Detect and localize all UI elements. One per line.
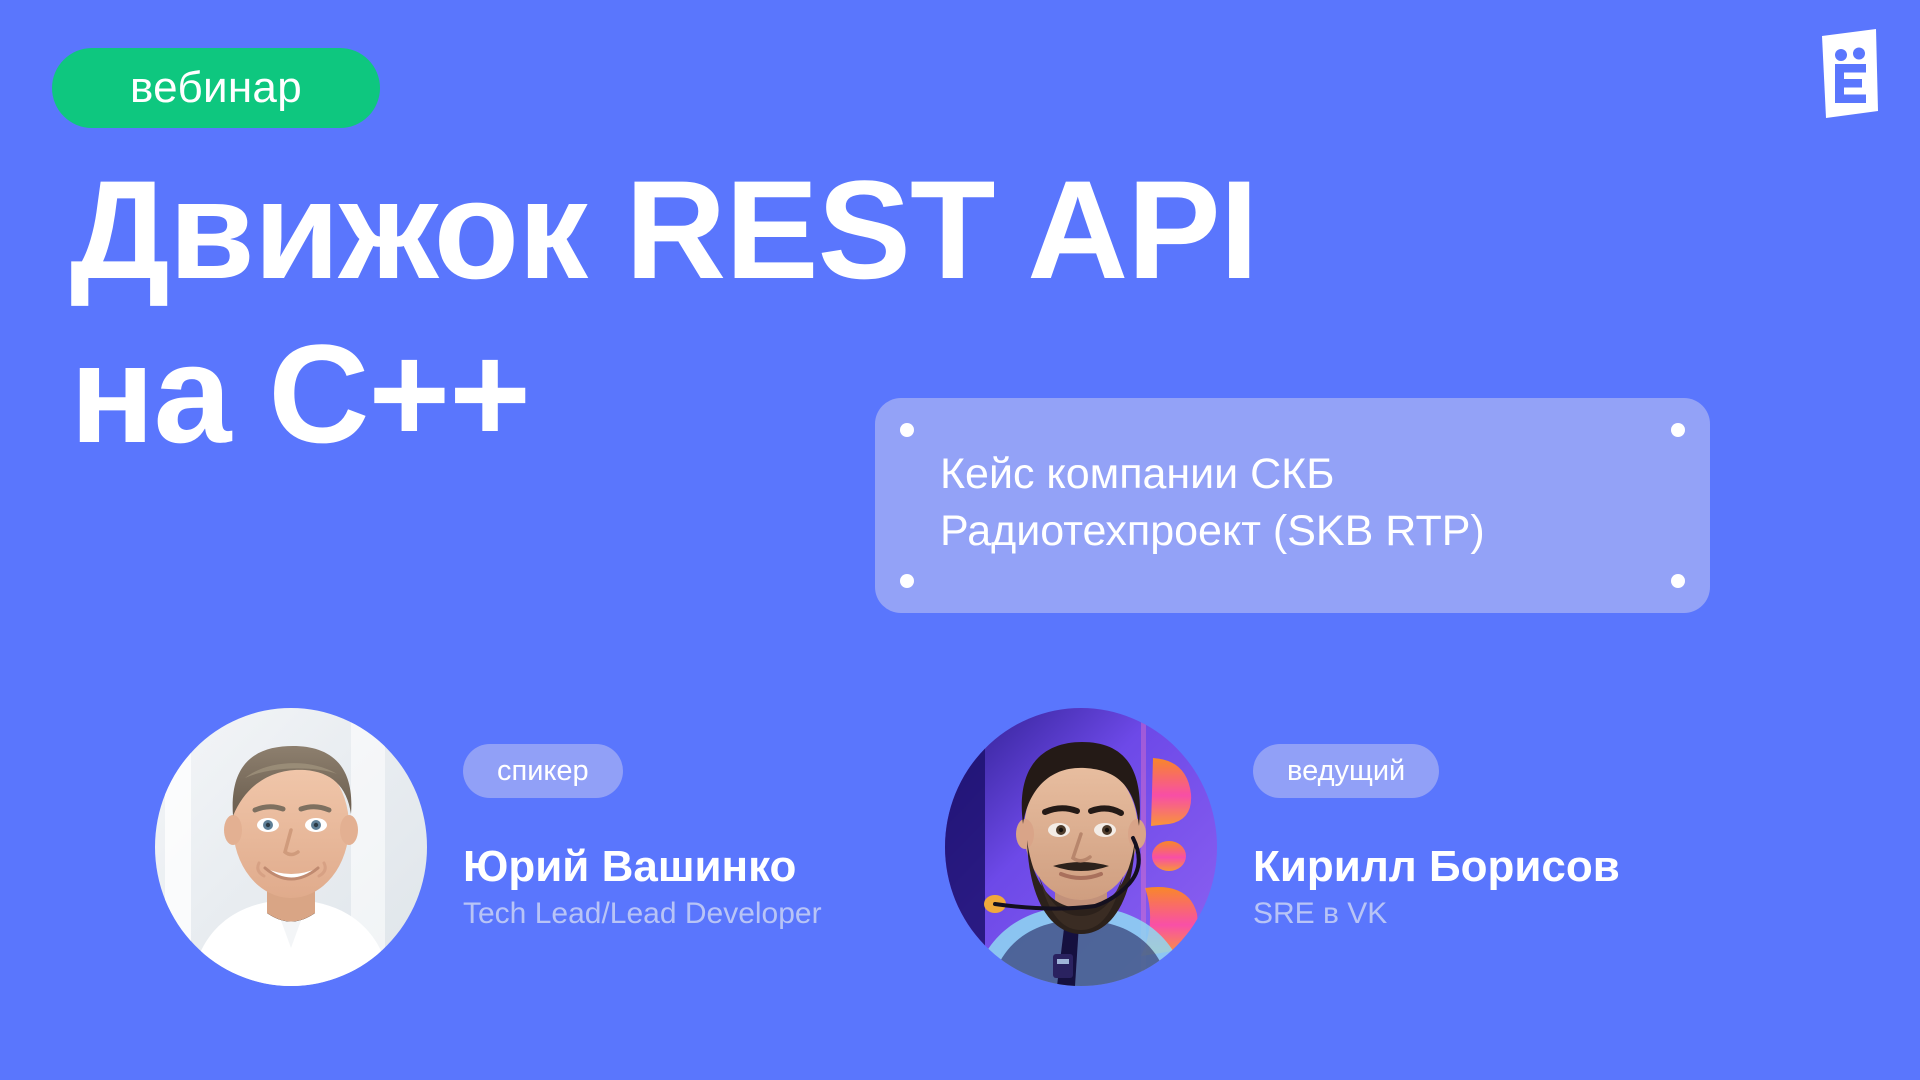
host-info: ведущий Кирилл Борисов SRE в VK	[1253, 708, 1620, 930]
card-dot-bottom-left	[900, 574, 914, 588]
speaker-name: Юрий Вашинко	[463, 844, 796, 890]
host-name: Кирилл Борисов	[1253, 844, 1620, 890]
webinar-poster: вебинар Движок REST API на C++ Кейс комп…	[0, 0, 1920, 1080]
speaker-block: спикер Юрий Вашинко Tech Lead/Lead Devel…	[155, 708, 822, 986]
host-role-badge: ведущий	[1253, 744, 1439, 798]
yo-logo-icon	[1816, 26, 1882, 120]
webinar-badge-label: вебинар	[130, 66, 302, 110]
speaker-role-label: спикер	[497, 757, 589, 786]
title-line-1: Движок REST API	[70, 160, 1850, 300]
speaker-job-title: Tech Lead/Lead Developer	[463, 897, 822, 930]
host-avatar	[945, 708, 1217, 986]
card-dot-top-left	[900, 423, 914, 437]
speaker-avatar	[155, 708, 427, 986]
case-card-text: Кейс компании СКБ Радиотехпроект (SKB RT…	[940, 446, 1670, 560]
host-role-label: ведущий	[1287, 757, 1405, 786]
host-block: ведущий Кирилл Борисов SRE в VK	[945, 708, 1620, 986]
host-job-title: SRE в VK	[1253, 897, 1387, 930]
webinar-badge: вебинар	[52, 48, 380, 128]
speaker-info: спикер Юрий Вашинко Tech Lead/Lead Devel…	[463, 708, 822, 930]
speaker-role-badge: спикер	[463, 744, 623, 798]
case-card: Кейс компании СКБ Радиотехпроект (SKB RT…	[875, 398, 1710, 613]
card-dot-bottom-right	[1671, 574, 1685, 588]
card-dot-top-right	[1671, 423, 1685, 437]
